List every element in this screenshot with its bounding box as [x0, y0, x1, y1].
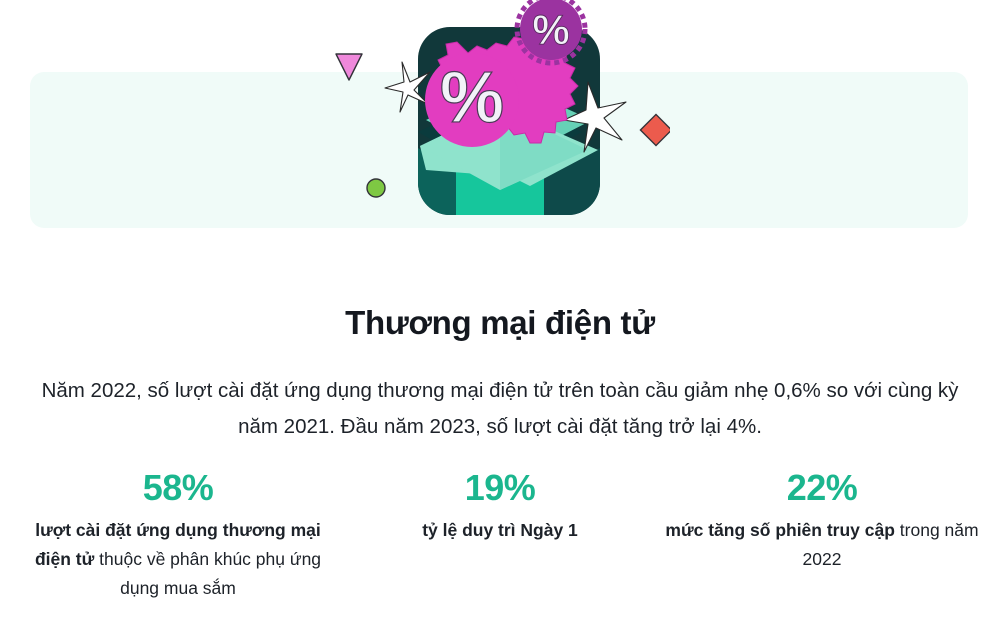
intro-paragraph: Năm 2022, số lượt cài đặt ứng dụng thươn… — [30, 373, 970, 445]
stat-label-regular: thuộc về phân khúc phụ ứng dụng mua sắm — [94, 549, 321, 598]
discount-badge-large-symbol: % — [440, 58, 504, 138]
triangle-shape-icon — [336, 54, 362, 80]
discount-badge-small-symbol: % — [532, 6, 569, 53]
stat-label: tỷ lệ duy trì Ngày 1 — [340, 516, 660, 545]
stat-card: 22% mức tăng số phiên truy cập trong năm… — [662, 466, 982, 574]
stat-label: mức tăng số phiên truy cập trong năm 202… — [662, 516, 982, 574]
stat-card: 19% tỷ lệ duy trì Ngày 1 — [340, 466, 660, 545]
stat-label-bold: tỷ lệ duy trì Ngày 1 — [422, 520, 578, 540]
ecommerce-discount-box-illustration: % % — [330, 0, 670, 230]
circle-shape-icon — [367, 179, 385, 197]
stat-value: 22% — [662, 466, 982, 510]
stats-row: 58% lượt cài đặt ứng dụng thương mại điệ… — [0, 466, 1000, 603]
page-title: Thương mại điện tử — [0, 304, 1000, 342]
stat-card: 58% lượt cài đặt ứng dụng thương mại điệ… — [18, 466, 338, 603]
stat-label: lượt cài đặt ứng dụng thương mại điện tử… — [18, 516, 338, 603]
stat-value: 19% — [340, 466, 660, 510]
diamond-shape-icon — [640, 114, 670, 145]
stat-value: 58% — [18, 466, 338, 510]
intro-line-1: Năm 2022, số lượt cài đặt ứng dụng thươn… — [42, 379, 849, 402]
stat-label-bold: mức tăng số phiên truy cập — [665, 520, 895, 540]
